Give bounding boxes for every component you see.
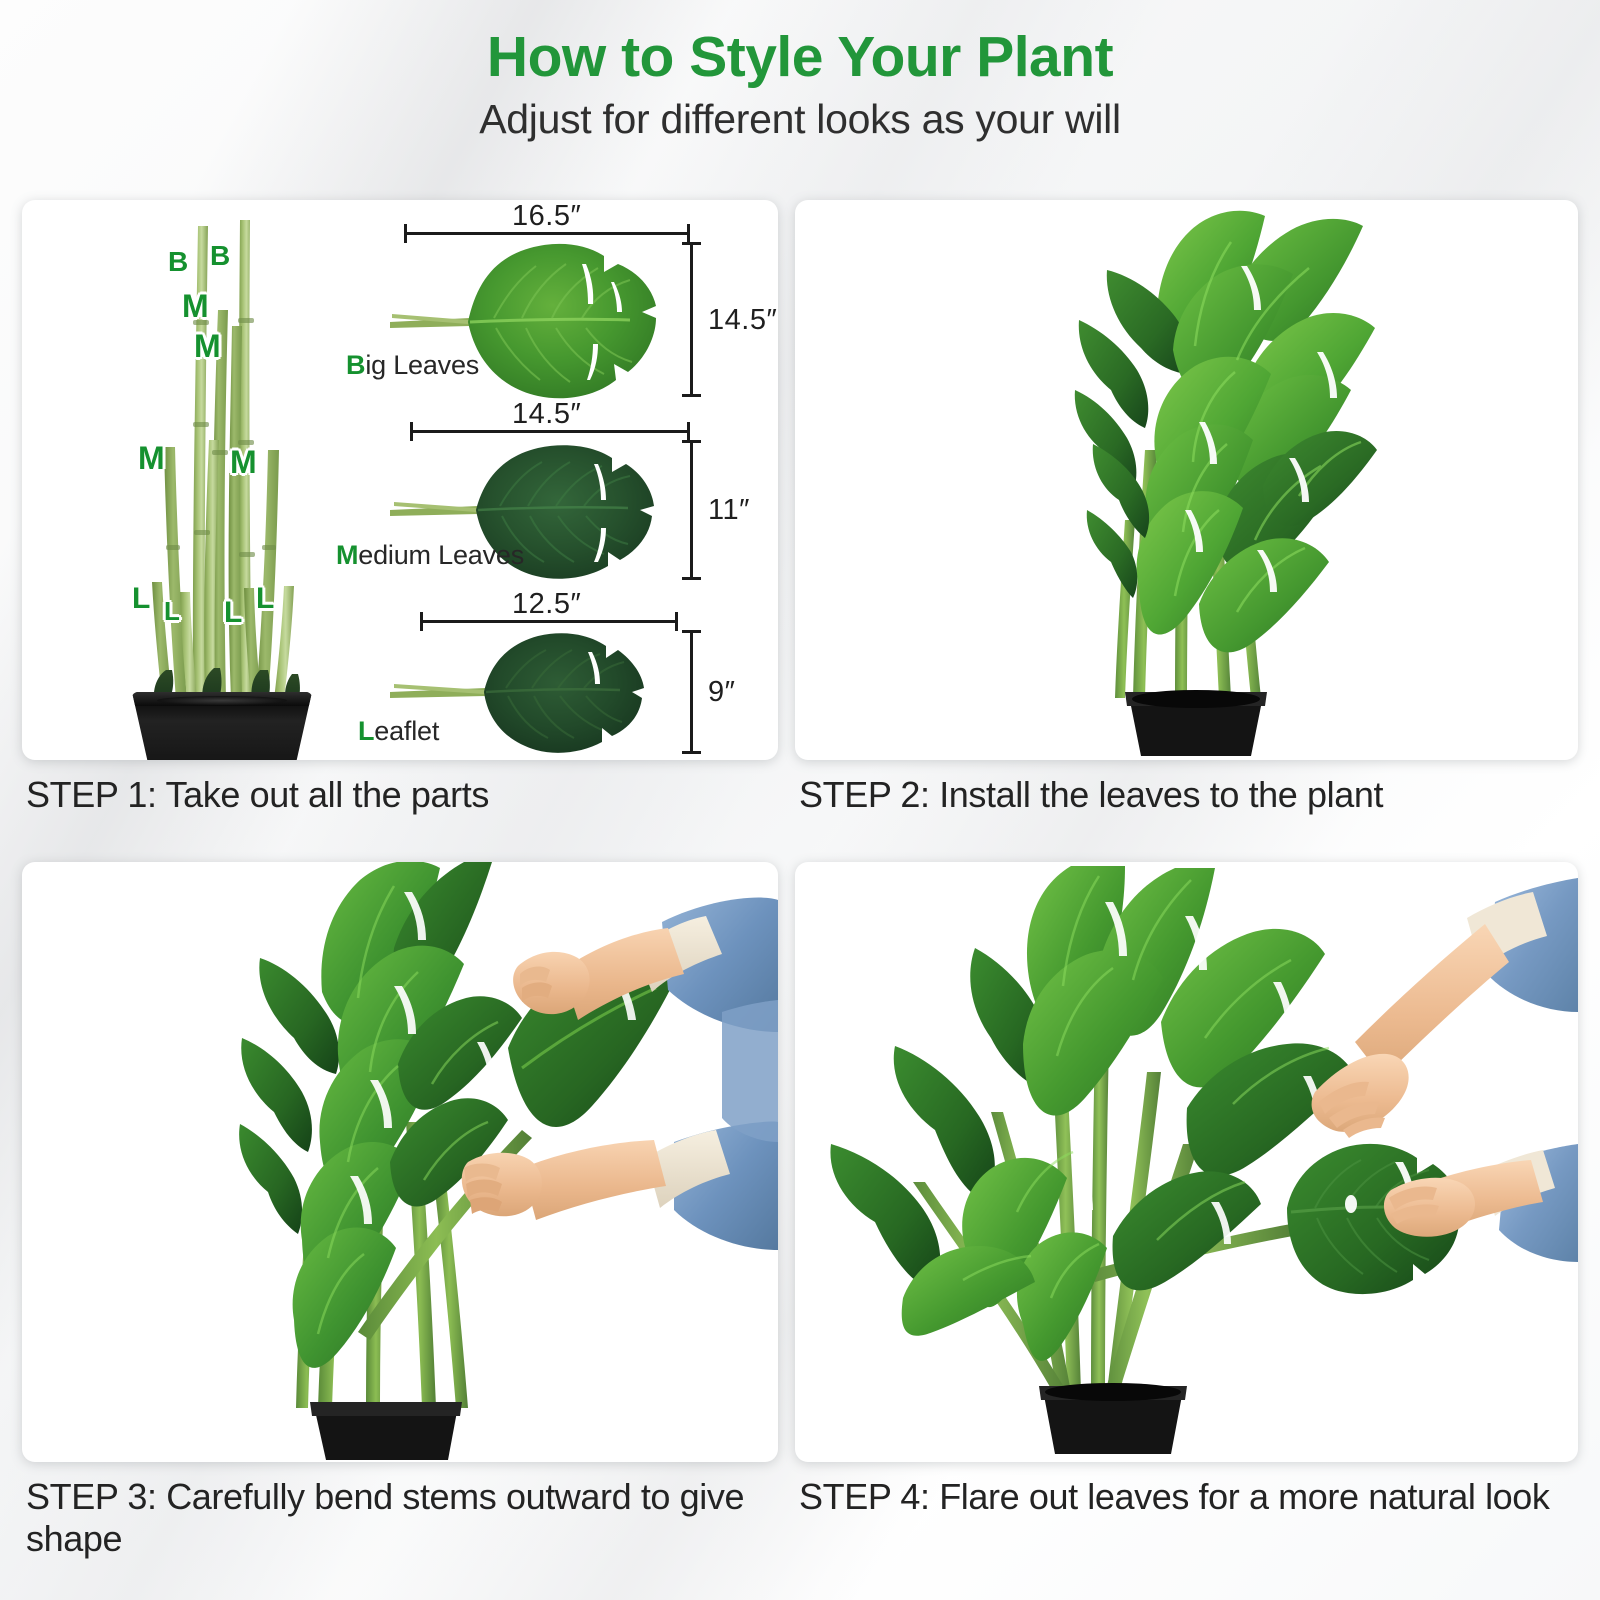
leaflet-name-rest: eaflet (374, 716, 439, 746)
big-leaf-width-label: 16.5″ (512, 200, 581, 233)
step-4: STEP 4: Flare out leaves for a more natu… (795, 862, 1578, 1518)
leaflet-height-line (690, 630, 693, 754)
medium-leaf-name-rest: edium Leaves (358, 540, 524, 570)
leaflet-width-label: 12.5″ (512, 588, 581, 621)
stem-marker-m-4: M (230, 444, 257, 481)
stem-marker-b-2: B (210, 240, 230, 272)
step-3: STEP 3: Carefully bend stems outward to … (22, 862, 778, 1560)
step-4-caption: STEP 4: Flare out leaves for a more natu… (795, 1476, 1578, 1518)
big-leaf-name: Big Leaves (346, 350, 479, 381)
stem-marker-l-4: L (256, 582, 274, 616)
stem-marker-b-1: B (168, 246, 188, 278)
step-1-image-panel: B B M M M M L L L L 16.5″ 14.5″ (22, 200, 778, 760)
stem-marker-m-2: M (194, 328, 221, 365)
step-3-artwork (22, 862, 778, 1462)
stem-marker-m-3: M (138, 440, 165, 477)
big-leaf-name-initial: B (346, 350, 365, 380)
medium-leaf-name-initial: M (336, 540, 358, 570)
step-4-artwork (795, 862, 1578, 1462)
step-2: STEP 2: Install the leaves to the plant (795, 200, 1578, 816)
stem-marker-l-3: L (224, 596, 242, 630)
step-1: B B M M M M L L L L 16.5″ 14.5″ (22, 200, 778, 816)
step-3-image-panel (22, 862, 778, 1462)
leaflet-name: Leaflet (358, 716, 439, 747)
step-2-caption: STEP 2: Install the leaves to the plant (795, 774, 1578, 816)
step-3-caption: STEP 3: Carefully bend stems outward to … (22, 1476, 778, 1560)
plant-pot (132, 692, 312, 760)
leaf-spec-big: 16.5″ 14.5″ (352, 200, 772, 400)
medium-leaf-height-label: 11″ (708, 494, 750, 527)
page-subtitle: Adjust for different looks as your will (0, 96, 1600, 143)
big-leaf-height-line (690, 242, 693, 397)
leaf-spec-medium: 14.5″ 11″ (352, 398, 772, 588)
big-leaf-height-label: 14.5″ (708, 304, 777, 337)
bending-stems-illustration (22, 862, 778, 1462)
step-4-image-panel (795, 862, 1578, 1462)
step-2-artwork (795, 200, 1578, 760)
stem-marker-l-2: L (164, 596, 180, 627)
medium-leaf-name: Medium Leaves (336, 540, 524, 571)
leaflet-name-initial: L (358, 716, 374, 746)
leaflet-height-label: 9″ (708, 676, 735, 709)
upper-hand-group-4 (1312, 878, 1578, 1138)
step-1-artwork: B B M M M M L L L L 16.5″ 14.5″ (22, 200, 778, 760)
step-2-image-panel (795, 200, 1578, 760)
lower-hand-group (462, 1122, 778, 1250)
assembled-plant-illustration (795, 200, 1578, 760)
stem-marker-m-1: M (182, 288, 209, 325)
flaring-leaves-illustration (795, 862, 1578, 1462)
page-title: How to Style Your Plant (0, 26, 1600, 90)
medium-leaf-height-line (690, 440, 693, 580)
step-1-caption: STEP 1: Take out all the parts (22, 774, 778, 816)
stem-marker-l-1: L (132, 582, 150, 616)
big-leaf-illustration (390, 238, 690, 408)
leaf-spec-leaflet: 12.5″ 9″ (352, 588, 772, 760)
medium-leaf-width-label: 14.5″ (512, 398, 581, 431)
steps-grid: B B M M M M L L L L 16.5″ 14.5″ (0, 200, 1600, 1600)
page-header: How to Style Your Plant Adjust for diffe… (0, 0, 1600, 143)
big-leaf-name-rest: ig Leaves (365, 350, 479, 380)
